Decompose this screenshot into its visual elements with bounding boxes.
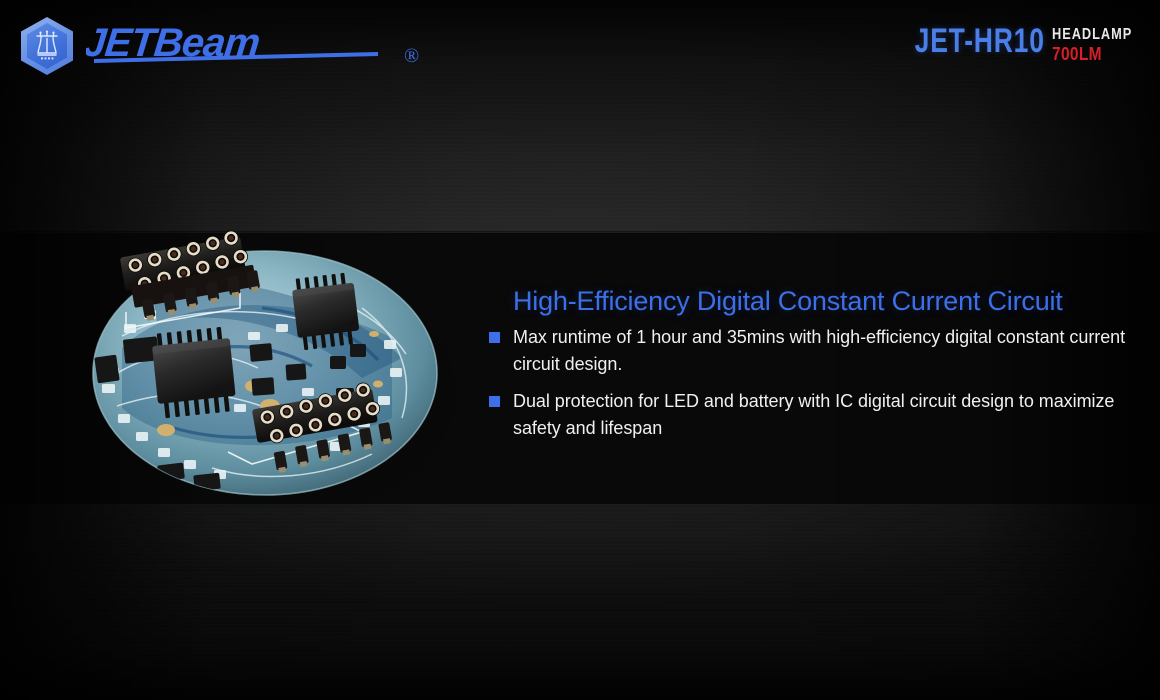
- header: JETBeam ® JET-HR10 HEADLAMP 700LM: [0, 0, 1160, 96]
- list-item-text: Max runtime of 1 hour and 35mins with hi…: [513, 324, 1129, 379]
- bullet-square-icon: [489, 332, 500, 343]
- list-item: Dual protection for LED and battery with…: [489, 388, 1129, 443]
- brand-logo[interactable]: JETBeam ®: [18, 14, 386, 78]
- bullet-square-icon: [489, 396, 500, 407]
- product-identity: JET-HR10 HEADLAMP 700LM: [878, 24, 1152, 65]
- page-title: High-Efficiency Digital Constant Current…: [513, 286, 1129, 318]
- brand-wordmark: JETBeam: [86, 23, 386, 69]
- lumens-label: 700LM: [1052, 45, 1138, 65]
- hexagon-lamp-emblem-icon: [18, 14, 76, 78]
- model-name: JET-HR10: [915, 24, 1045, 58]
- product-type-label: HEADLAMP: [1052, 27, 1132, 44]
- registered-trademark-icon: ®: [404, 46, 419, 66]
- feature-list: Max runtime of 1 hour and 35mins with hi…: [489, 324, 1129, 442]
- lamp-icon: [30, 27, 64, 65]
- list-item-text: Dual protection for LED and battery with…: [513, 388, 1129, 443]
- feature-copy: High-Efficiency Digital Constant Current…: [489, 286, 1129, 451]
- product-marketing-banner: JETBeam ® JET-HR10 HEADLAMP 700LM: [0, 0, 1160, 700]
- spec-stack: HEADLAMP 700LM: [1052, 24, 1152, 65]
- list-item: Max runtime of 1 hour and 35mins with hi…: [489, 324, 1129, 379]
- pcb-photo: [62, 228, 472, 508]
